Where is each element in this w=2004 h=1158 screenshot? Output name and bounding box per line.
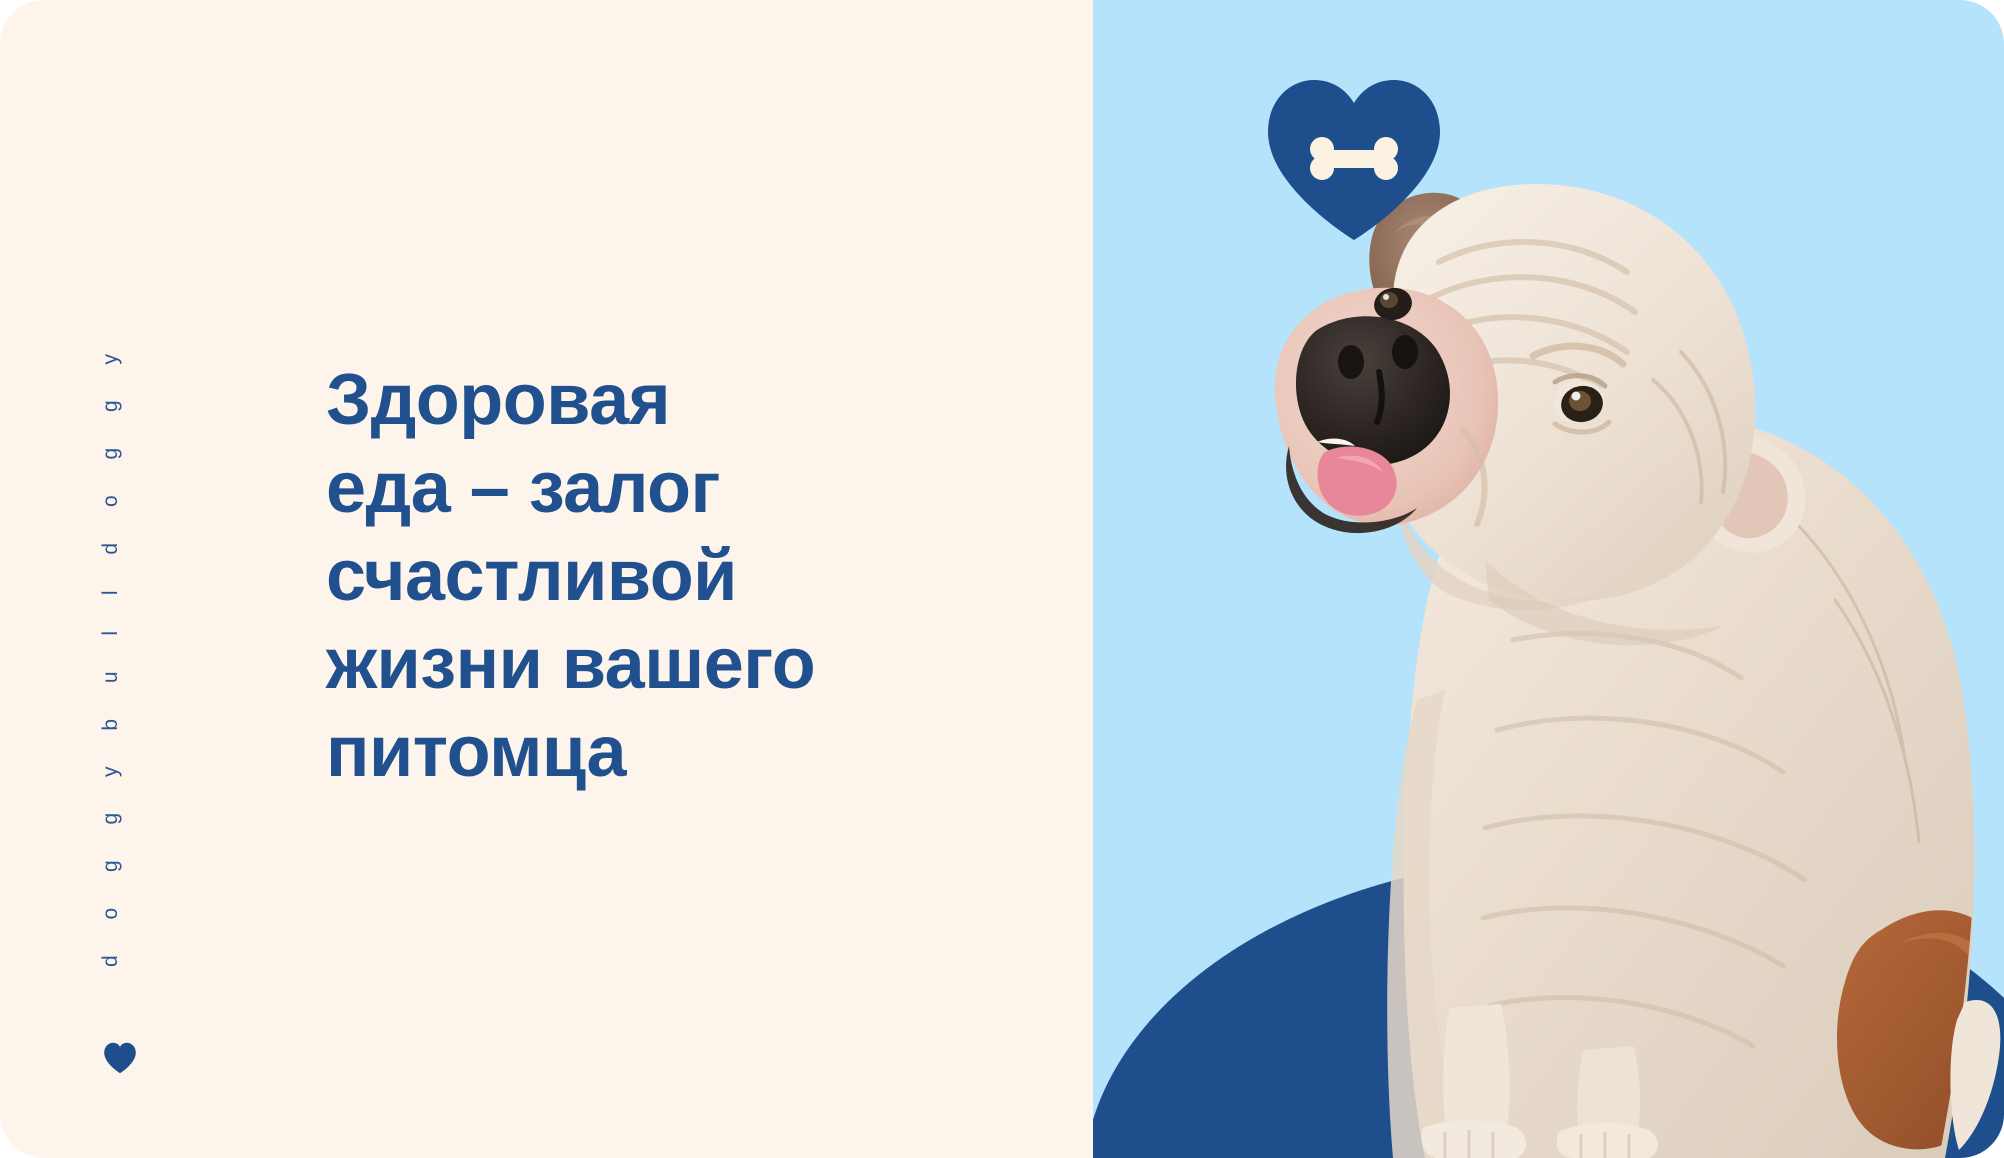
bulldog-photo: [1093, 0, 2004, 1158]
brand-vertical-text: d o g g y b u l l d o g g y: [99, 339, 123, 967]
headline-line-4: жизни вашего: [326, 620, 966, 708]
headline-line-2: еда – залог: [326, 444, 966, 532]
page-title: Здоровая еда – залог счастливой жизни ва…: [326, 356, 966, 796]
heart-icon: [103, 1042, 137, 1074]
right-visual-panel: [1093, 0, 2004, 1158]
headline-line-1: Здоровая: [326, 356, 966, 444]
dog-tail: [1950, 1000, 2000, 1150]
promo-slide: d o g g y b u l l d o g g y Здоровая еда…: [0, 0, 2004, 1158]
dog-head: [1275, 184, 1756, 610]
brand-vertical-label: d o g g y b u l l d o g g y: [88, 358, 134, 948]
headline-line-3: счастливой: [326, 532, 966, 620]
headline-line-5: питомца: [326, 708, 966, 796]
heart-bone-badge: [1264, 76, 1444, 242]
left-content-panel: d o g g y b u l l d o g g y Здоровая еда…: [0, 0, 1093, 1158]
